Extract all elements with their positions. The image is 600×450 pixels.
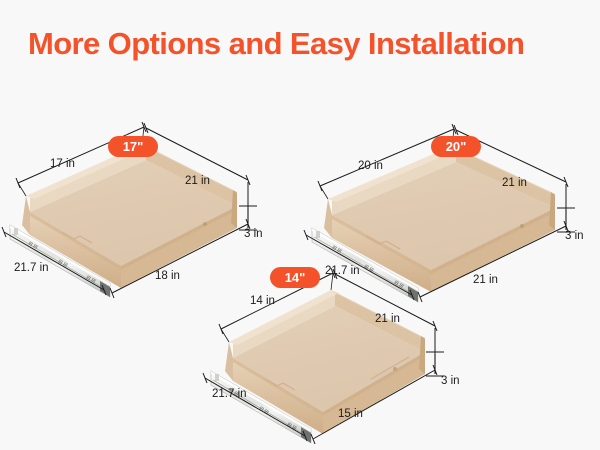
drawer-20-slide-length-label: 21.7 in <box>325 265 360 277</box>
drawer-17-height-label: 3 in <box>244 228 263 240</box>
drawer-17-outer-width-label: 18 in <box>155 270 180 282</box>
drawer-20-badge: 20" <box>431 136 481 157</box>
drawer-20-front-width-label: 20 in <box>358 160 383 172</box>
drawer-14-outer-width-label: 15 in <box>338 408 363 420</box>
drawer-20-depth-label: 21 in <box>502 177 527 189</box>
drawer-14-front-width-label: 14 in <box>250 295 275 307</box>
drawer-14-slide-length-label: 21.7 in <box>212 388 247 400</box>
drawer-17-badge: 17" <box>108 136 158 157</box>
drawer-17-depth-label: 21 in <box>185 175 210 187</box>
illustration-canvas: More Options and Easy Installation <box>0 0 600 450</box>
drawer-17-slide-length-label: 21.7 in <box>14 262 49 274</box>
drawer-14-badge: 14" <box>270 267 320 288</box>
drawer-14-depth-label: 21 in <box>375 313 400 325</box>
page-title: More Options and Easy Installation <box>28 28 524 59</box>
drawer-20-height-label: 3 in <box>565 230 584 242</box>
drawer-14-height-label: 3 in <box>441 375 460 387</box>
drawer-14-illustration: ⊟ ⊟ ⊟ ⊟ ⊟ ⊟ <box>195 255 445 440</box>
drawer-17-front-width-label: 17 in <box>50 158 75 170</box>
drawer-20-outer-width-label: 21 in <box>473 274 498 286</box>
